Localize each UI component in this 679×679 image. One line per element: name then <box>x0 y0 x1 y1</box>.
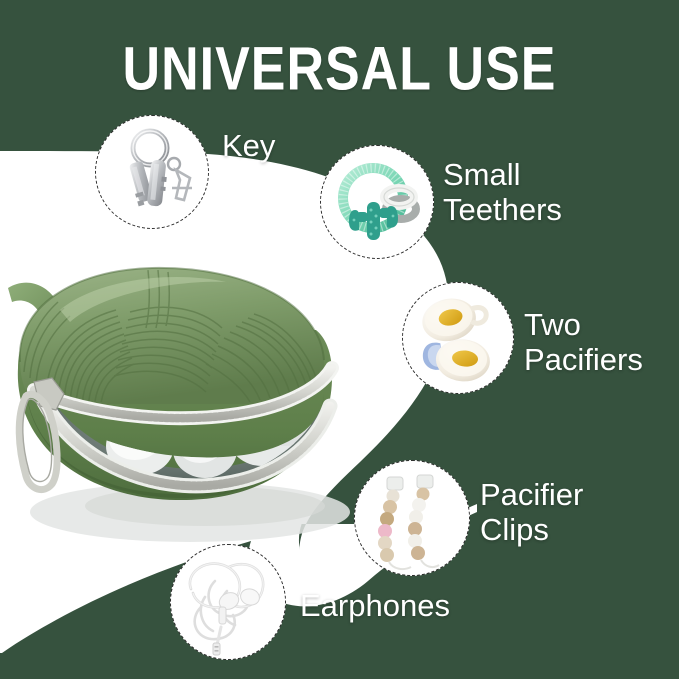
callout-circle-two-pacifiers <box>402 282 514 394</box>
beaded-pacifier-clips-icon <box>355 461 469 575</box>
two-pacifiers-icon <box>403 283 513 393</box>
page-title: UNIVERSAL USE <box>0 34 679 105</box>
wired-earphones-icon <box>171 545 285 659</box>
callout-label-small-teethers: Small Teethers <box>443 158 562 227</box>
callout-circle-small-teethers <box>320 145 434 259</box>
callout-circle-earphones <box>170 544 286 660</box>
product-pouch-image <box>0 250 370 540</box>
teether-ring-cactus-icon <box>321 146 433 258</box>
callout-label-earphones: Earphones <box>300 589 450 624</box>
callout-label-pacifier-clips: Pacifier Clips <box>480 478 583 547</box>
callout-circle-key <box>95 115 209 229</box>
callout-circle-pacifier-clips <box>354 460 470 576</box>
product-infographic: UNIVERSAL USE <box>0 0 679 679</box>
callout-label-two-pacifiers: Two Pacifiers <box>524 308 643 377</box>
keys-on-ring-icon <box>96 116 208 228</box>
callout-label-key: Key <box>222 129 275 164</box>
